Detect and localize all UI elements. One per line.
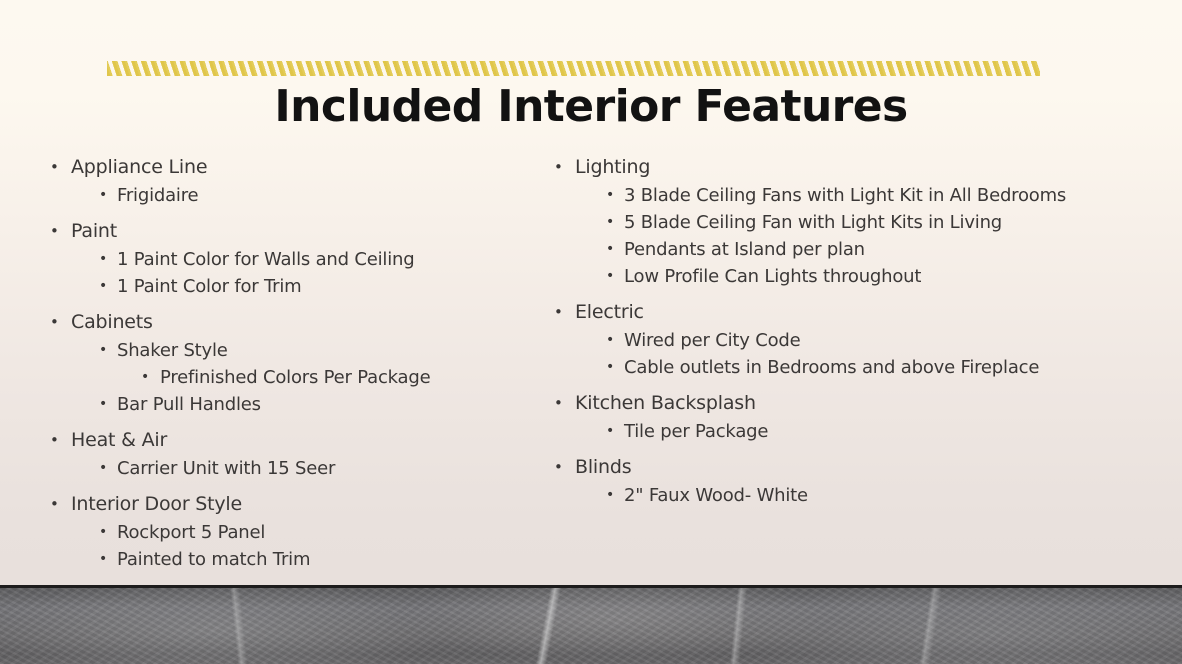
bullet-dot-icon: • (50, 489, 71, 519)
bullet-item-level-1: •Paint (44, 216, 544, 246)
bullet-item-label: Pendants at Island per plan (624, 236, 865, 263)
bullet-item-label: Carrier Unit with 15 Seer (117, 455, 335, 482)
bullet-dot-icon: • (141, 364, 160, 391)
bullet-item-level-3: •Prefinished Colors Per Package (44, 364, 544, 391)
bullet-item-level-2: •Frigidaire (44, 182, 544, 209)
bullet-dot-icon: • (50, 307, 71, 337)
bullet-item-level-1: •Heat & Air (44, 425, 544, 455)
bullet-column-left: •Appliance Line•Frigidaire•Paint•1 Paint… (44, 152, 544, 573)
bullet-item-level-2: •Rockport 5 Panel (44, 519, 544, 546)
bullet-item-label: Heat & Air (71, 425, 167, 455)
bullet-dot-icon: • (99, 455, 117, 482)
bullet-dot-icon: • (606, 327, 624, 354)
stone-photo-strip (0, 588, 1182, 664)
bullet-dot-icon: • (50, 425, 71, 455)
bullet-item-level-2: •1 Paint Color for Walls and Ceiling (44, 246, 544, 273)
bullet-item-label: 1 Paint Color for Trim (117, 273, 302, 300)
bullet-item-level-1: •Kitchen Backsplash (548, 388, 1148, 418)
bullet-item-label: Tile per Package (624, 418, 768, 445)
bullet-item-level-2: •Bar Pull Handles (44, 391, 544, 418)
bullet-item-level-2: •Painted to match Trim (44, 546, 544, 573)
bullet-item-label: 5 Blade Ceiling Fan with Light Kits in L… (624, 209, 1002, 236)
gold-hatch-divider (107, 61, 1040, 76)
bullet-item-label: Electric (575, 297, 644, 327)
bullet-dot-icon: • (554, 152, 575, 182)
bullet-item-label: Appliance Line (71, 152, 207, 182)
bullet-item-level-2: •3 Blade Ceiling Fans with Light Kit in … (548, 182, 1148, 209)
bullet-item-level-1: •Electric (548, 297, 1148, 327)
bullet-column-right: •Lighting•3 Blade Ceiling Fans with Ligh… (548, 152, 1148, 509)
bullet-dot-icon: • (99, 182, 117, 209)
slide-canvas: Included Interior Features •Appliance Li… (0, 0, 1182, 664)
bullet-item-level-1: •Cabinets (44, 307, 544, 337)
bullet-item-level-1: •Lighting (548, 152, 1148, 182)
bullet-dot-icon: • (99, 337, 117, 364)
bullet-item-label: Lighting (575, 152, 650, 182)
bullet-item-label: Blinds (575, 452, 631, 482)
bullet-dot-icon: • (554, 297, 575, 327)
bullet-dot-icon: • (606, 209, 624, 236)
bullet-item-level-1: •Interior Door Style (44, 489, 544, 519)
bullet-dot-icon: • (99, 546, 117, 573)
bullet-item-label: 3 Blade Ceiling Fans with Light Kit in A… (624, 182, 1066, 209)
bullet-item-level-2: •Cable outlets in Bedrooms and above Fir… (548, 354, 1148, 381)
bullet-item-level-2: •5 Blade Ceiling Fan with Light Kits in … (548, 209, 1148, 236)
bullet-item-level-2: •Shaker Style (44, 337, 544, 364)
bullet-dot-icon: • (99, 246, 117, 273)
slide-title: Included Interior Features (0, 82, 1182, 132)
bullet-item-label: Painted to match Trim (117, 546, 310, 573)
bullet-item-label: Low Profile Can Lights throughout (624, 263, 921, 290)
bullet-dot-icon: • (99, 519, 117, 546)
bullet-item-label: Cabinets (71, 307, 153, 337)
bullet-dot-icon: • (606, 236, 624, 263)
bullet-item-label: Prefinished Colors Per Package (160, 364, 431, 391)
bullet-dot-icon: • (554, 388, 575, 418)
bullet-item-level-2: •Wired per City Code (548, 327, 1148, 354)
bullet-dot-icon: • (606, 263, 624, 290)
bullet-dot-icon: • (606, 182, 624, 209)
bullet-item-level-2: •Low Profile Can Lights throughout (548, 263, 1148, 290)
bullet-item-label: 1 Paint Color for Walls and Ceiling (117, 246, 414, 273)
bullet-dot-icon: • (99, 391, 117, 418)
bullet-item-label: Bar Pull Handles (117, 391, 261, 418)
bullet-item-label: 2" Faux Wood- White (624, 482, 808, 509)
bullet-item-level-1: •Appliance Line (44, 152, 544, 182)
bullet-item-level-2: •Carrier Unit with 15 Seer (44, 455, 544, 482)
bullet-item-level-2: •Pendants at Island per plan (548, 236, 1148, 263)
bullet-item-level-2: •1 Paint Color for Trim (44, 273, 544, 300)
bullet-dot-icon: • (99, 273, 117, 300)
bullet-item-label: Cable outlets in Bedrooms and above Fire… (624, 354, 1039, 381)
bullet-item-level-1: •Blinds (548, 452, 1148, 482)
bullet-item-level-2: •Tile per Package (548, 418, 1148, 445)
bullet-dot-icon: • (606, 418, 624, 445)
bullet-dot-icon: • (606, 354, 624, 381)
bullet-dot-icon: • (606, 482, 624, 509)
bullet-item-label: Shaker Style (117, 337, 228, 364)
bullet-item-label: Kitchen Backsplash (575, 388, 756, 418)
bullet-item-label: Wired per City Code (624, 327, 801, 354)
bullet-dot-icon: • (50, 216, 71, 246)
bullet-item-label: Paint (71, 216, 117, 246)
bullet-item-label: Rockport 5 Panel (117, 519, 265, 546)
bullet-dot-icon: • (50, 152, 71, 182)
bullet-item-label: Frigidaire (117, 182, 198, 209)
bullet-item-level-2: •2" Faux Wood- White (548, 482, 1148, 509)
bullet-dot-icon: • (554, 452, 575, 482)
bullet-item-label: Interior Door Style (71, 489, 242, 519)
